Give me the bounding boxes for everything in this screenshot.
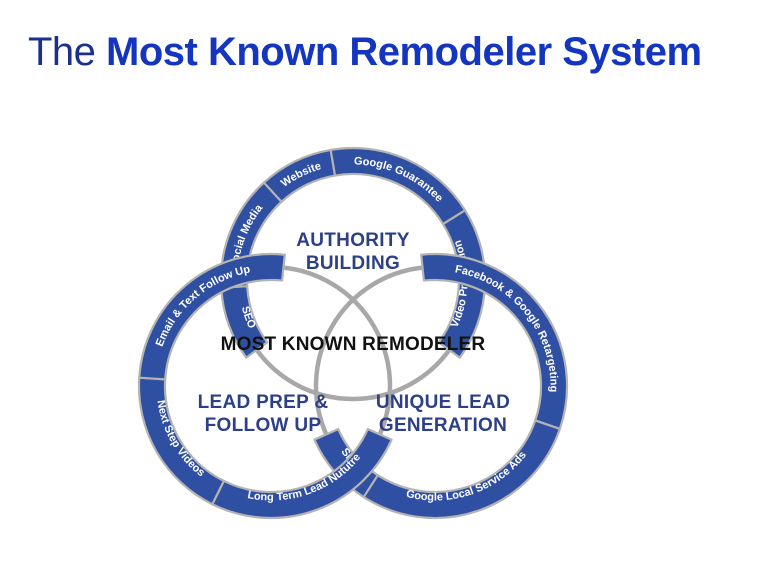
ring-segments: SEOSocial MediaWebsiteGoogle GuaranteeVi… bbox=[139, 148, 567, 518]
page-title: The Most Known Remodeler System bbox=[28, 30, 702, 75]
lobe-title-authority-building-line1: AUTHORITY bbox=[296, 230, 410, 251]
lobe-title-unique-lead-generation-line2: GENERATION bbox=[379, 415, 507, 436]
lobe-title-lead-prep-follow-up-line2: FOLLOW UP bbox=[205, 415, 322, 436]
ring-segment-shape bbox=[212, 429, 391, 518]
diagram-canvas: SEOSocial MediaWebsiteGoogle GuaranteeVi… bbox=[130, 138, 576, 530]
lobe-title-unique-lead-generation-line1: UNIQUE LEAD bbox=[376, 392, 510, 413]
ring-segment[interactable]: Google Guarantee bbox=[331, 148, 465, 224]
lobe-title-authority-building-line2: BUILDING bbox=[306, 253, 400, 274]
center-label: MOST KNOWN REMODELER bbox=[221, 334, 486, 355]
ring-segment[interactable]: Long Term Lead Nututre bbox=[212, 429, 391, 518]
ring-segment[interactable]: Website bbox=[264, 150, 335, 202]
venn-diagram: SEOSocial MediaWebsiteGoogle GuaranteeVi… bbox=[130, 138, 576, 530]
page-title-prefix: The bbox=[28, 30, 106, 74]
page-title-main: Most Known Remodeler System bbox=[106, 30, 702, 74]
lobe-title-lead-prep-follow-up-line1: LEAD PREP & bbox=[198, 392, 329, 413]
ring-segment-shape bbox=[331, 148, 465, 224]
